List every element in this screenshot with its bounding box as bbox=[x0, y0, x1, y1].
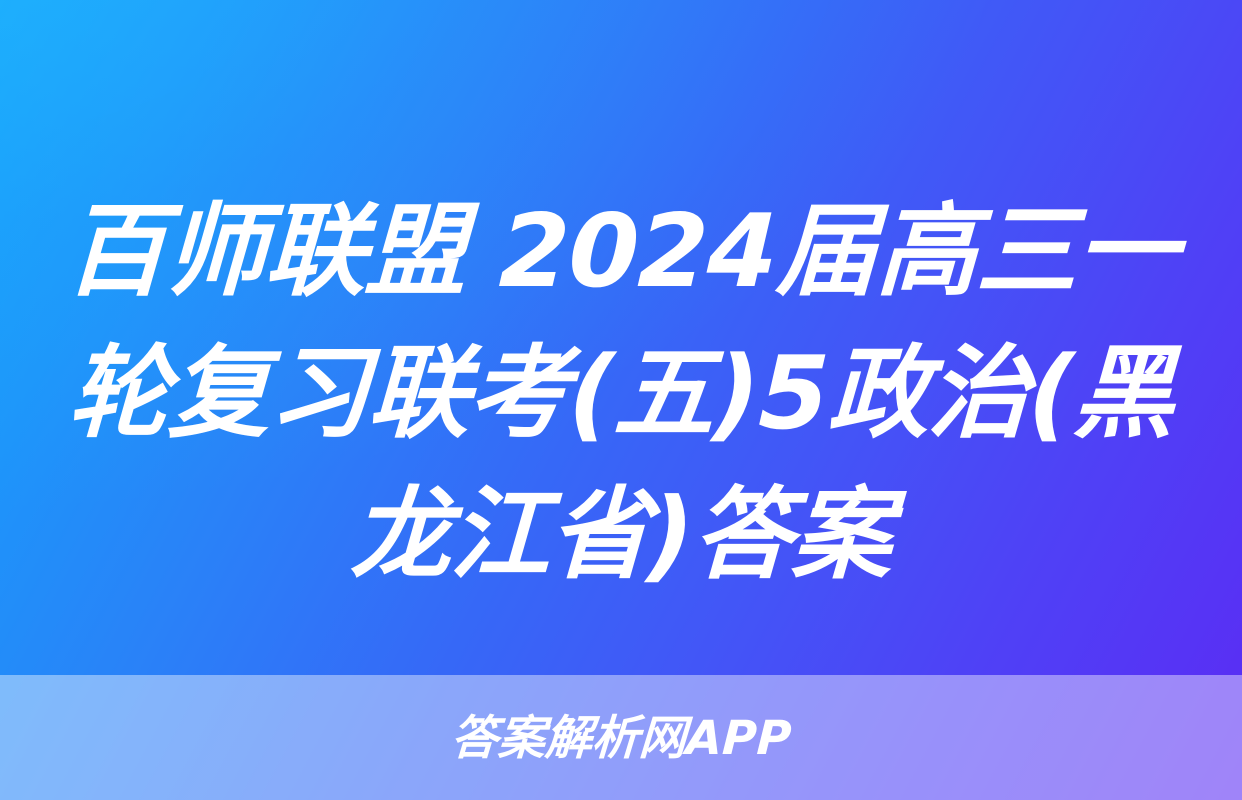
title-line-1: 百师联盟 2024届高三一 bbox=[54, 180, 1189, 322]
app-brand-label: 答案解析网APP bbox=[450, 715, 793, 762]
poster-canvas: 百师联盟 2024届高三一 轮复习联考(五)5政治(黑 龙江省)答案 答案解析网… bbox=[0, 0, 1242, 800]
title-line-3: 龙江省)答案 bbox=[54, 464, 1189, 606]
title-block: 百师联盟 2024届高三一 轮复习联考(五)5政治(黑 龙江省)答案 bbox=[0, 180, 1242, 610]
title-line-2: 轮复习联考(五)5政治(黑 bbox=[54, 322, 1189, 464]
footer-band: 答案解析网APP bbox=[0, 675, 1242, 800]
